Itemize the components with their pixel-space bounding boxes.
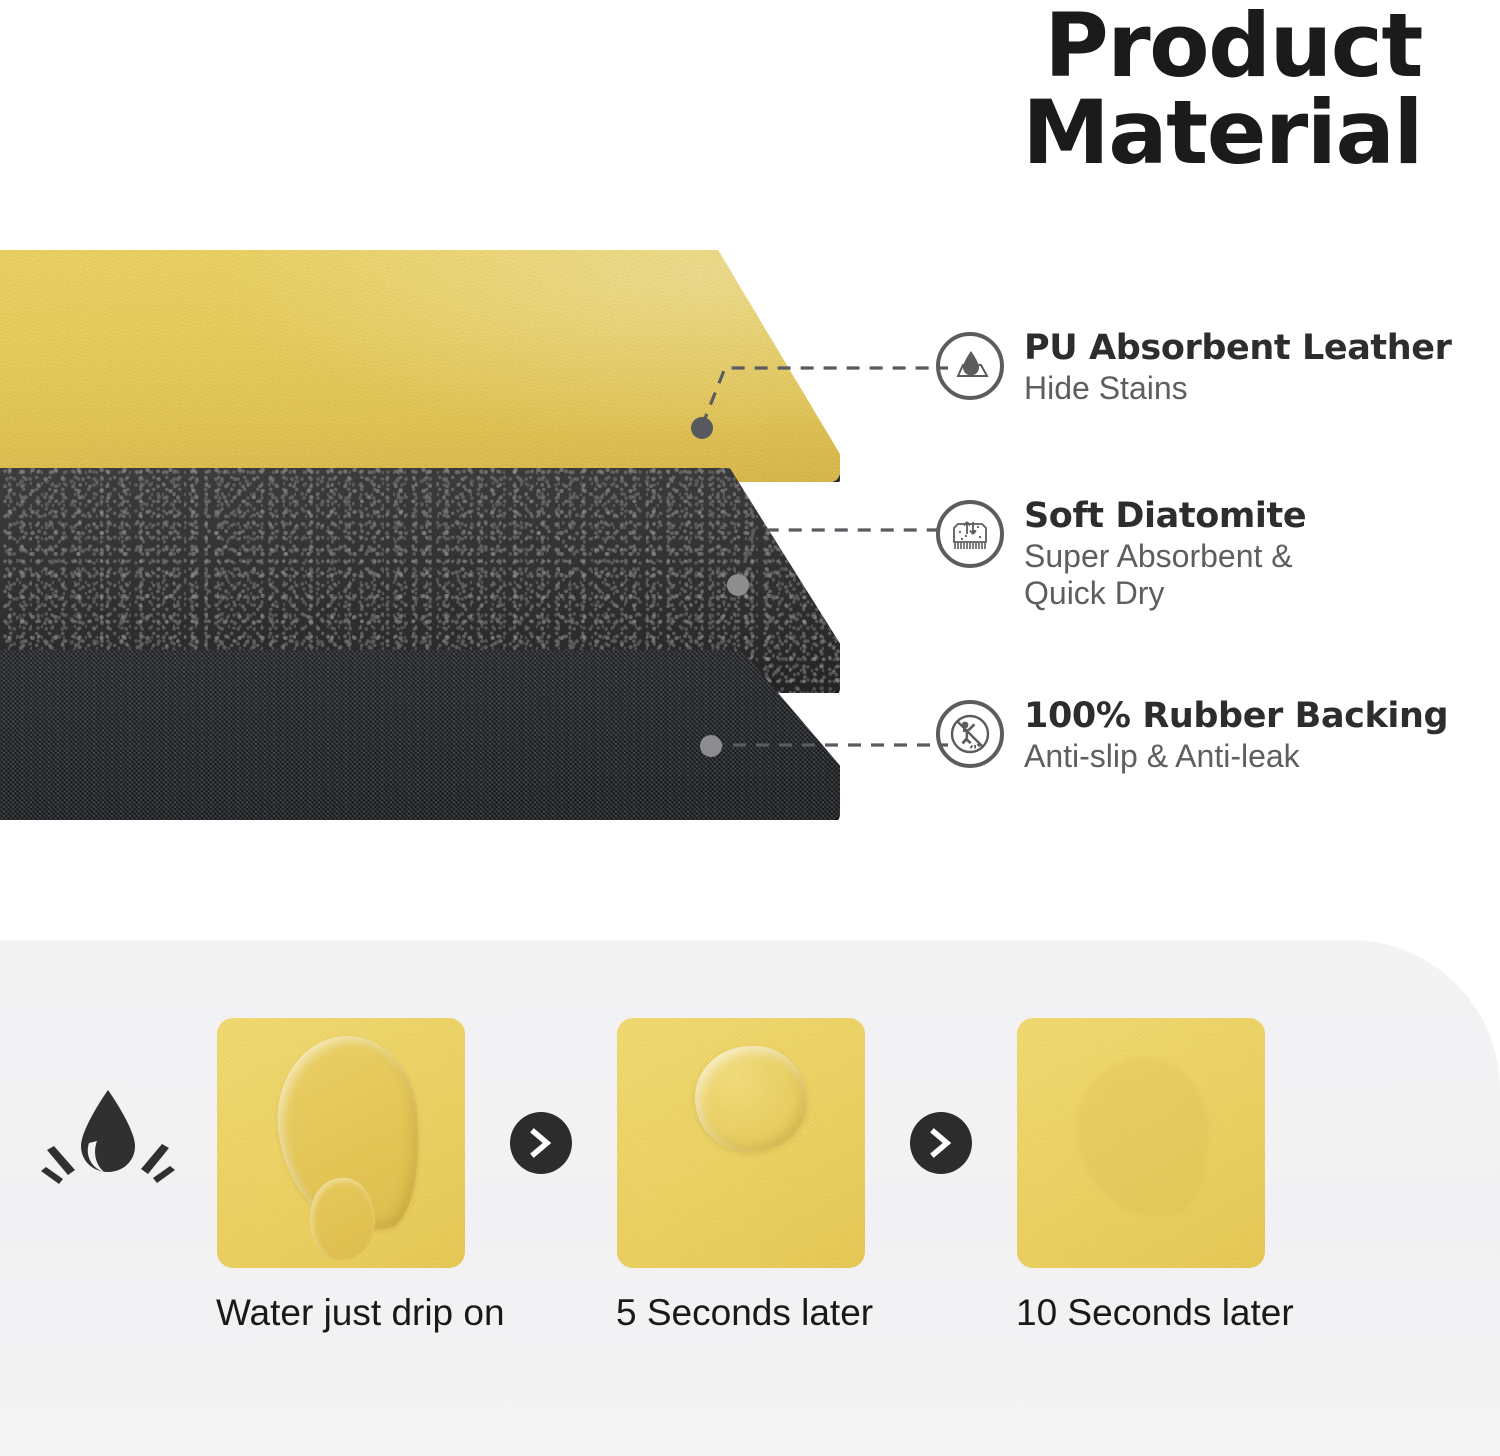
water-splash-droplet-icon (0, 1084, 216, 1202)
droplet-on-surface-icon (936, 332, 1004, 400)
water-droplet-small (695, 1046, 807, 1152)
caption-step-2: 5 Seconds later (616, 1292, 866, 1334)
feature-item-rubber-backing: 100% Rubber Backing Anti-slip & Anti-lea… (936, 698, 1448, 775)
demo-arrow-1 (466, 1112, 616, 1174)
callout-marker-pu (691, 417, 713, 439)
page-title: Product Material (1022, 2, 1422, 176)
caption-step-3: 10 Seconds later (1016, 1292, 1266, 1334)
swatch-5-seconds-later (617, 1018, 865, 1268)
caption-step-1: Water just drip on (216, 1292, 466, 1334)
demo-step-3 (1016, 1018, 1266, 1268)
demo-captions: Water just drip on 5 Seconds later 10 Se… (0, 1292, 1500, 1334)
feature-title: 100% Rubber Backing (1024, 698, 1448, 736)
page-title-line-2: Material (1022, 89, 1422, 176)
leader-lines (690, 330, 950, 780)
swatch-water-drip-on (217, 1018, 465, 1268)
caption-gap (866, 1292, 1016, 1334)
demo-step-2 (616, 1018, 866, 1268)
feature-text: PU Absorbent Leather Hide Stains (1024, 330, 1451, 407)
feature-item-soft-diatomite: Soft Diatomite Super Absorbent & Quick D… (936, 498, 1354, 612)
feature-text: 100% Rubber Backing Anti-slip & Anti-lea… (1024, 698, 1448, 775)
feature-text: Soft Diatomite Super Absorbent & Quick D… (1024, 498, 1354, 612)
demo-arrow-2 (866, 1112, 1016, 1174)
absorption-demo-row (0, 1008, 1500, 1278)
swatch-10-seconds-later (1017, 1018, 1265, 1268)
feature-subtitle: Super Absorbent & Quick Dry (1024, 538, 1354, 612)
callout-marker-diatomite (727, 574, 749, 596)
feature-title: PU Absorbent Leather (1024, 330, 1451, 368)
chevron-right-icon[interactable] (510, 1112, 572, 1174)
absorption-demo-panel: Water just drip on 5 Seconds later 10 Se… (0, 940, 1500, 1456)
feature-item-pu-absorbent-leather: PU Absorbent Leather Hide Stains (936, 330, 1451, 407)
feature-title: Soft Diatomite (1024, 498, 1354, 536)
callout-marker-rubber (700, 735, 722, 757)
chevron-right-icon[interactable] (910, 1112, 972, 1174)
page-title-line-1: Product (1022, 2, 1422, 89)
caption-spacer (0, 1292, 216, 1334)
absorption-arrows-icon (936, 500, 1004, 568)
no-slip-person-icon (936, 700, 1004, 768)
feature-subtitle: Anti-slip & Anti-leak (1024, 738, 1354, 775)
demo-step-1 (216, 1018, 466, 1268)
feature-subtitle: Hide Stains (1024, 370, 1354, 407)
caption-gap (466, 1292, 616, 1334)
